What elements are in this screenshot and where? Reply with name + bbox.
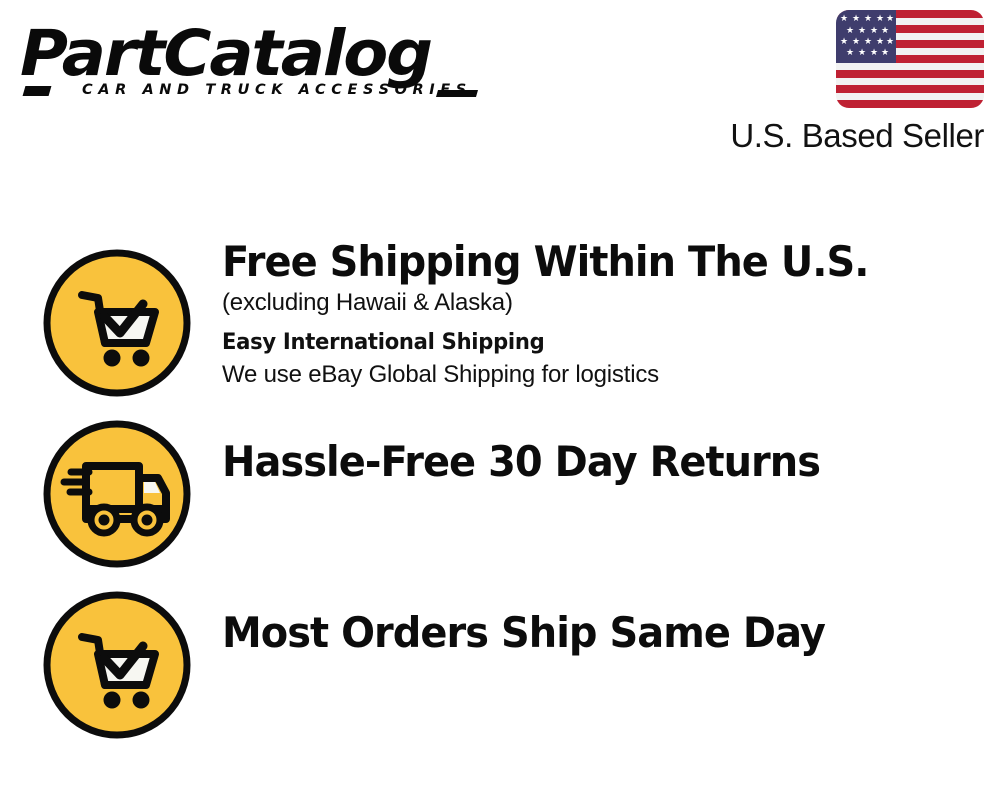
feature-text-block: Hassle-Free 30 Day Returns	[222, 437, 992, 487]
feature-subtitle: We use eBay Global Shipping for logistic…	[222, 359, 992, 391]
feature-row: Hassle-Free 30 Day Returns	[0, 401, 1000, 572]
feature-row: Free Shipping Within The U.S. (excluding…	[0, 230, 1000, 401]
delivery-truck-icon	[42, 419, 192, 569]
brand-tagline-row: CAR AND TRUCK ACCESSORIES	[24, 82, 490, 104]
feature-text-block: Most Orders Ship Same Day	[222, 608, 992, 658]
page-header: PartCatalog CAR AND TRUCK ACCESSORIES ★ …	[0, 0, 1000, 175]
seller-badge: ★ ★ ★ ★ ★ ★ ★ ★ ★ ★ ★ ★ ★ ★ ★ ★ ★ ★ U.S.…	[714, 10, 984, 155]
feature-text-block: Free Shipping Within The U.S. (excluding…	[222, 237, 992, 391]
feature-title: Hassle-Free 30 Day Returns	[222, 437, 954, 487]
us-flag-icon: ★ ★ ★ ★ ★ ★ ★ ★ ★ ★ ★ ★ ★ ★ ★ ★ ★ ★	[836, 10, 984, 108]
brand-wordmark: PartCatalog	[20, 22, 509, 86]
feature-row: Most Orders Ship Same Day	[0, 572, 1000, 743]
feature-title: Free Shipping Within The U.S.	[222, 237, 954, 287]
feature-subtitle: (excluding Hawaii & Alaska)	[222, 287, 992, 319]
shopping-cart-check-icon	[42, 248, 192, 398]
seller-badge-label: U.S. Based Seller	[714, 117, 984, 155]
brand-logo[interactable]: PartCatalog CAR AND TRUCK ACCESSORIES	[20, 22, 490, 104]
flag-canton: ★ ★ ★ ★ ★ ★ ★ ★ ★ ★ ★ ★ ★ ★ ★ ★ ★ ★	[836, 10, 896, 63]
feature-subtitle-bold: Easy International Shipping	[222, 327, 961, 359]
shopping-cart-check-icon	[42, 590, 192, 740]
brand-tagline: CAR AND TRUCK ACCESSORIES	[82, 82, 472, 98]
feature-title: Most Orders Ship Same Day	[222, 608, 954, 658]
tagline-dash-left-icon	[23, 86, 52, 96]
tagline-dash-right-icon	[436, 90, 478, 97]
